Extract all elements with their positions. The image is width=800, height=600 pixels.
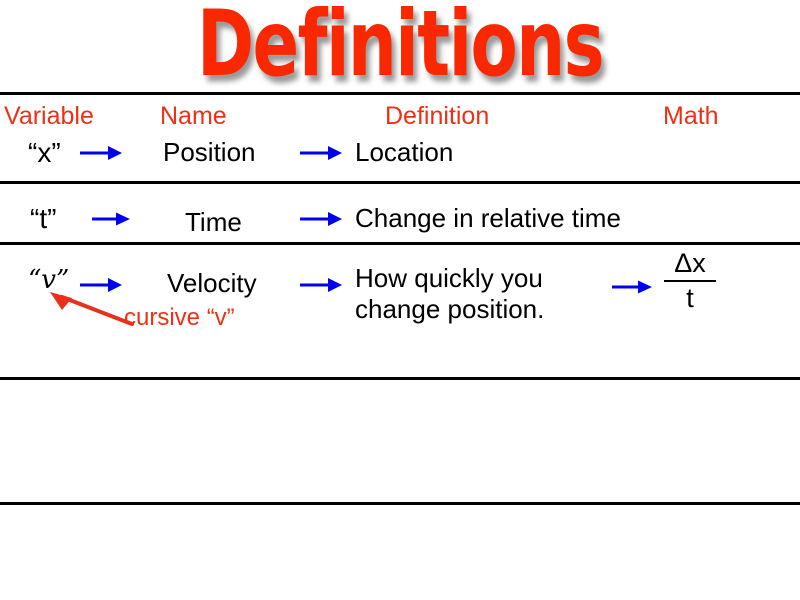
table-row: “x”: [28, 137, 61, 168]
column-header-definition: Definition: [385, 104, 489, 129]
right-arrow-icon: [300, 144, 342, 167]
column-header-name: Name: [160, 104, 227, 129]
math-numerator: Δx: [655, 248, 725, 278]
table-rule-row1: [0, 181, 800, 184]
right-arrow-icon: [300, 210, 342, 233]
math-denominator: t: [655, 283, 725, 313]
slide-canvas: Definitions Variable Name Definition Mat…: [0, 0, 800, 600]
table-cell-name: Time: [185, 207, 242, 238]
table-rule-row3: [0, 377, 800, 380]
math-fraction-bar: [664, 280, 716, 282]
table-rule-top: [0, 92, 800, 95]
right-arrow-icon: [80, 144, 122, 167]
callout-arrow-icon: [44, 286, 136, 333]
right-arrow-icon: [300, 276, 342, 299]
column-header-math: Math: [663, 104, 719, 129]
right-arrow-icon: [92, 210, 130, 233]
table-cell-definition: Location: [355, 137, 453, 168]
table-cell-definition: Change in relative time: [355, 203, 621, 234]
table-cell-definition: How quickly you change position.: [355, 263, 605, 325]
right-arrow-icon: [612, 278, 652, 301]
table-cell-name: Velocity: [167, 268, 257, 299]
table-cell-math: Δx t: [655, 248, 725, 313]
table-rule-row2: [0, 242, 800, 245]
table-row: “t”: [30, 203, 56, 234]
table-rule-bottom: [0, 502, 800, 505]
page-title: Definitions: [80, 0, 720, 97]
callout-label: cursive “v”: [124, 305, 235, 331]
table-cell-name: Position: [163, 137, 256, 168]
column-header-variable: Variable: [4, 104, 94, 129]
